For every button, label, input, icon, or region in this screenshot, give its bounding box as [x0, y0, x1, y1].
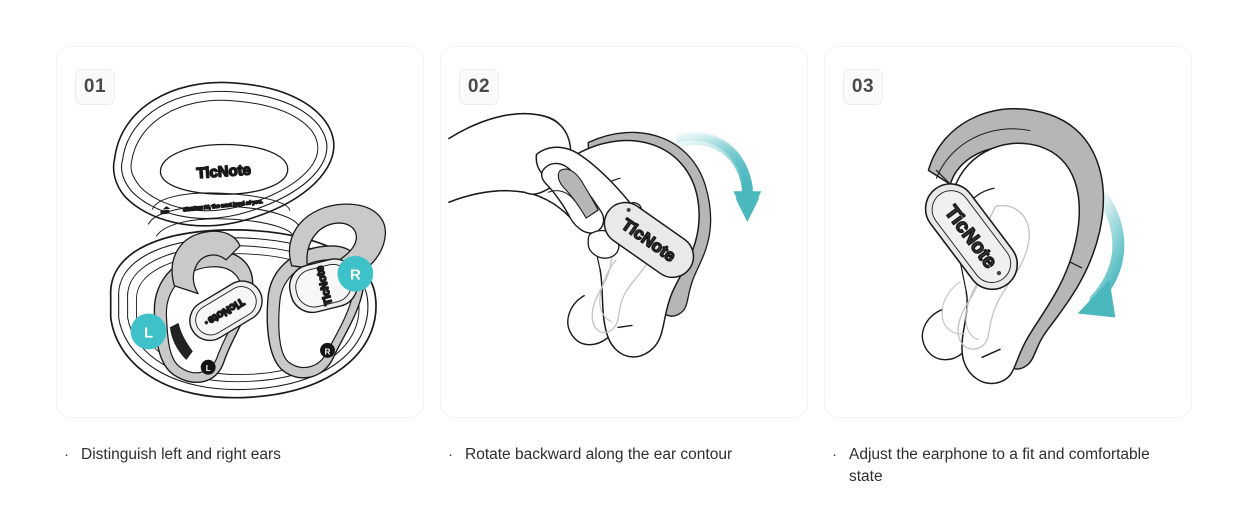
caption-bullet: · — [64, 444, 69, 466]
step-number-badge-03: 03 — [843, 69, 883, 105]
left-ear-badge-label: L — [144, 325, 153, 341]
step-card-03: 03 — [824, 46, 1192, 528]
step-card-01: 01 TicNote Shadow — [56, 46, 424, 528]
instruction-steps-board: 01 TicNote Shadow — [0, 0, 1250, 528]
step-01-caption: · Distinguish left and right ears — [56, 444, 424, 466]
step-card-02: 02 — [440, 46, 808, 528]
step-03-caption: · Adjust the earphone to a fit and comfo… — [824, 444, 1192, 488]
step-number-badge-01: 01 — [75, 69, 115, 105]
caption-text: Distinguish left and right ears — [81, 444, 281, 466]
right-ear-badge: R — [337, 256, 373, 292]
ear-tragus-03 — [942, 282, 964, 334]
caption-text: Rotate backward along the ear contour — [465, 444, 732, 466]
arrow-head-02 — [733, 191, 761, 221]
arrow-head-03 — [1078, 280, 1116, 318]
left-ear-badge: L — [131, 314, 167, 350]
step-number-badge-02: 02 — [459, 69, 499, 105]
caption-bullet: · — [448, 444, 453, 466]
step-03-illustration-card: 03 — [824, 46, 1192, 418]
step-02-illustration-card: 02 — [440, 46, 808, 418]
step-02-caption: · Rotate backward along the ear contour — [440, 444, 808, 466]
right-contact-letter: R — [325, 347, 331, 356]
right-ear-badge-label: R — [350, 268, 361, 284]
left-contact-letter: L — [206, 364, 211, 373]
caption-bullet: · — [832, 444, 837, 466]
caption-text: Adjust the earphone to a fit and comfort… — [849, 444, 1169, 488]
step-01-illustration-card: 01 TicNote Shadow — [56, 46, 424, 418]
